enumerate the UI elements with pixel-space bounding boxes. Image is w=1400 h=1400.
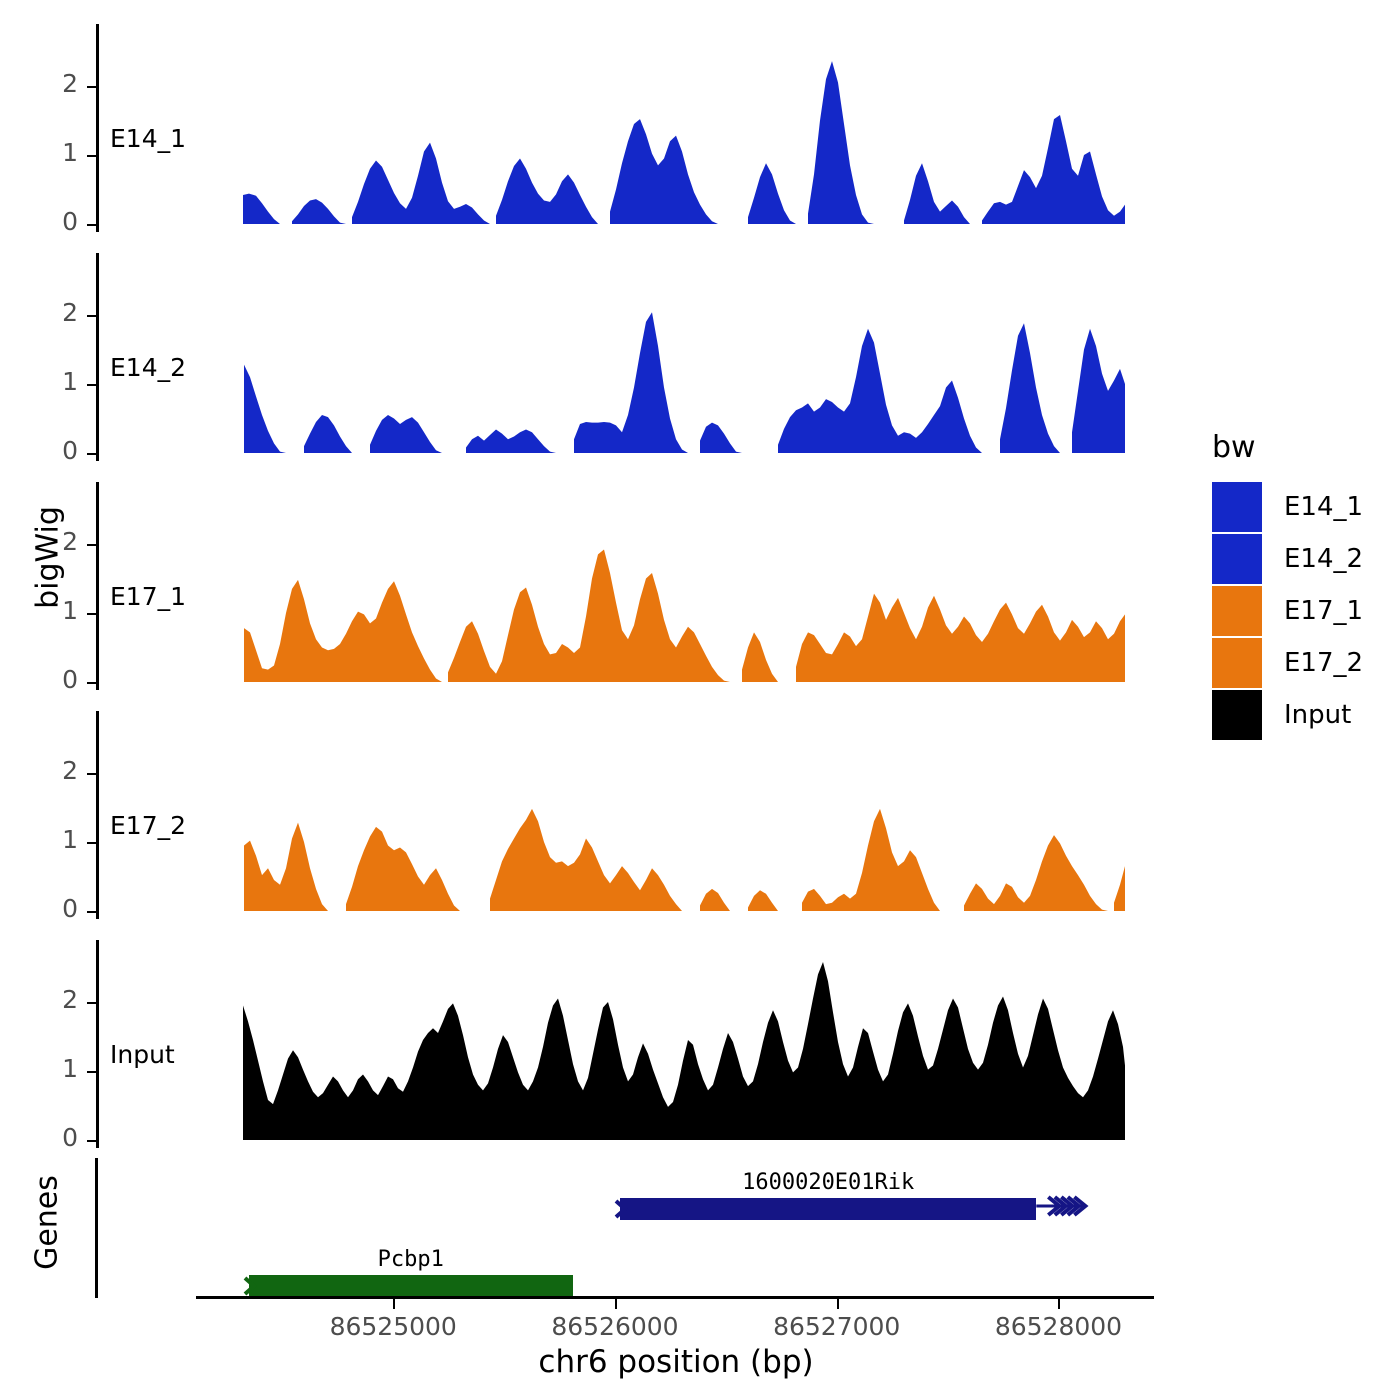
legend-label-e17_2: E17_2 xyxy=(1284,648,1363,678)
gene-label-1600020e01rik: 1600020E01Rik xyxy=(742,1170,914,1195)
x-tick-label-86526000: 86526000 xyxy=(551,1312,678,1341)
x-tick-86525000 xyxy=(393,1299,395,1309)
legend-swatch-e17_1 xyxy=(1212,586,1262,636)
signal-area-e17_1 xyxy=(0,482,1180,696)
x-tick-86527000 xyxy=(837,1299,839,1309)
gene-label-pcbp1: Pcbp1 xyxy=(378,1247,444,1272)
x-axis: 86525000865260008652700086528000 chr6 po… xyxy=(0,1296,1400,1396)
legend-item-input[interactable]: Input xyxy=(1212,690,1351,740)
signal-area-e14_2 xyxy=(0,253,1180,467)
x-tick-label-86525000: 86525000 xyxy=(330,1312,457,1341)
x-tick-86526000 xyxy=(615,1299,617,1309)
track-panel-e14_2: 012E14_2 xyxy=(0,253,1180,467)
legend-swatch-e17_2 xyxy=(1212,638,1262,688)
legend-label-e14_1: E14_1 xyxy=(1284,492,1363,522)
legend-swatch-e14_2 xyxy=(1212,534,1262,584)
track-panel-e14_1: 012E14_1 xyxy=(0,24,1180,238)
legend-item-e14_2[interactable]: E14_2 xyxy=(1212,534,1363,584)
gene-strand-arrow-icon-1600020e01rik xyxy=(610,1191,632,1227)
legend: bw E14_1E14_2E17_1E17_2Input xyxy=(1212,430,1400,720)
track-panel-input: 012Input xyxy=(0,940,1180,1154)
gene-feature-1600020e01rik[interactable] xyxy=(620,1198,1036,1220)
legend-item-e14_1[interactable]: E14_1 xyxy=(1212,482,1363,532)
track-panel-e17_2: 012E17_2 xyxy=(0,711,1180,925)
legend-title: bw xyxy=(1212,430,1256,465)
legend-swatch-input xyxy=(1212,690,1262,740)
signal-area-e17_2 xyxy=(0,711,1180,925)
legend-label-e17_1: E17_1 xyxy=(1284,596,1363,626)
signal-area-input xyxy=(0,940,1180,1154)
legend-label-input: Input xyxy=(1284,700,1351,730)
legend-swatch-e14_1 xyxy=(1212,482,1262,532)
legend-item-e17_1[interactable]: E17_1 xyxy=(1212,586,1363,636)
x-tick-label-86528000: 86528000 xyxy=(995,1312,1122,1341)
gene-feature-pcbp1[interactable] xyxy=(249,1275,573,1297)
signal-area-e14_1 xyxy=(0,24,1180,238)
legend-label-e14_2: E14_2 xyxy=(1284,544,1363,574)
x-axis-line xyxy=(196,1296,1154,1299)
x-axis-title: chr6 position (bp) xyxy=(538,1344,813,1380)
track-panel-e17_1: 012E17_1 xyxy=(0,482,1180,696)
genes-panel: 1600020E01RikPcbp1 xyxy=(0,1150,1180,1300)
genome-browser-figure: bigWig Genes 012E14_1012E14_2012E17_1012… xyxy=(0,0,1400,1400)
genes-layer: 1600020E01RikPcbp1 xyxy=(0,1150,1180,1300)
legend-item-e17_2[interactable]: E17_2 xyxy=(1212,638,1363,688)
x-tick-label-86527000: 86527000 xyxy=(773,1312,900,1341)
x-tick-86528000 xyxy=(1058,1299,1060,1309)
